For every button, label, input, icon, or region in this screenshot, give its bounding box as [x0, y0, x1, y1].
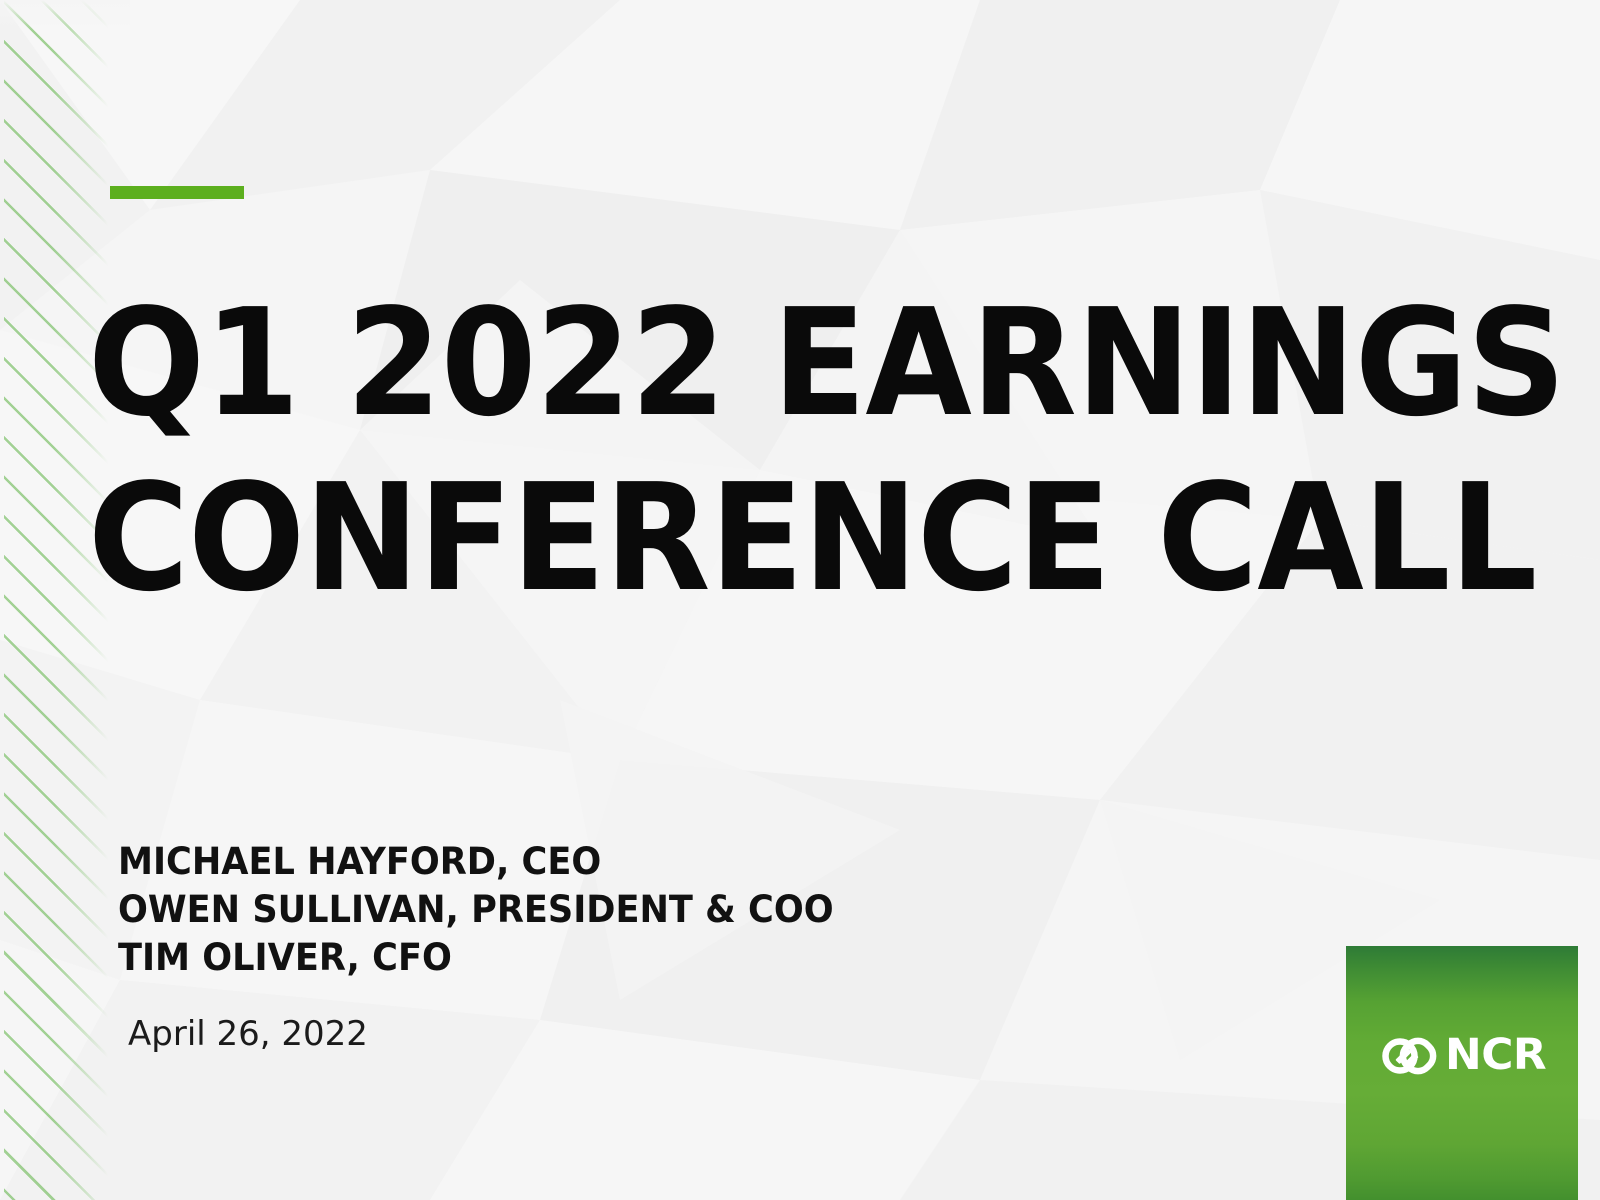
title-slide: Q1 2022 EARNINGS CONFERENCE CALL MICHAEL…	[0, 0, 1600, 1200]
date-text: April 26, 2022	[128, 1012, 368, 1056]
page-title: Q1 2022 EARNINGS CONFERENCE CALL	[88, 276, 1558, 626]
speaker-line: TIM OLIVER, CFO	[118, 934, 1163, 982]
speaker-line: OWEN SULLIVAN, PRESIDENT & COO	[118, 886, 1163, 934]
ncr-logo-plate: NCR	[1346, 946, 1578, 1200]
title-line-1: Q1 2022 EARNINGS	[88, 276, 1455, 451]
ncr-logo-lockup: NCR	[1346, 1034, 1578, 1077]
ncr-interlocking-loops-icon	[1380, 1035, 1438, 1077]
speaker-list: MICHAEL HAYFORD, CEO OWEN SULLIVAN, PRES…	[118, 838, 1218, 982]
title-line-2: CONFERENCE CALL	[88, 451, 1455, 626]
speaker-line: MICHAEL HAYFORD, CEO	[118, 838, 1163, 886]
ncr-wordmark: NCR	[1445, 1034, 1546, 1077]
green-accent-rule	[110, 186, 244, 199]
